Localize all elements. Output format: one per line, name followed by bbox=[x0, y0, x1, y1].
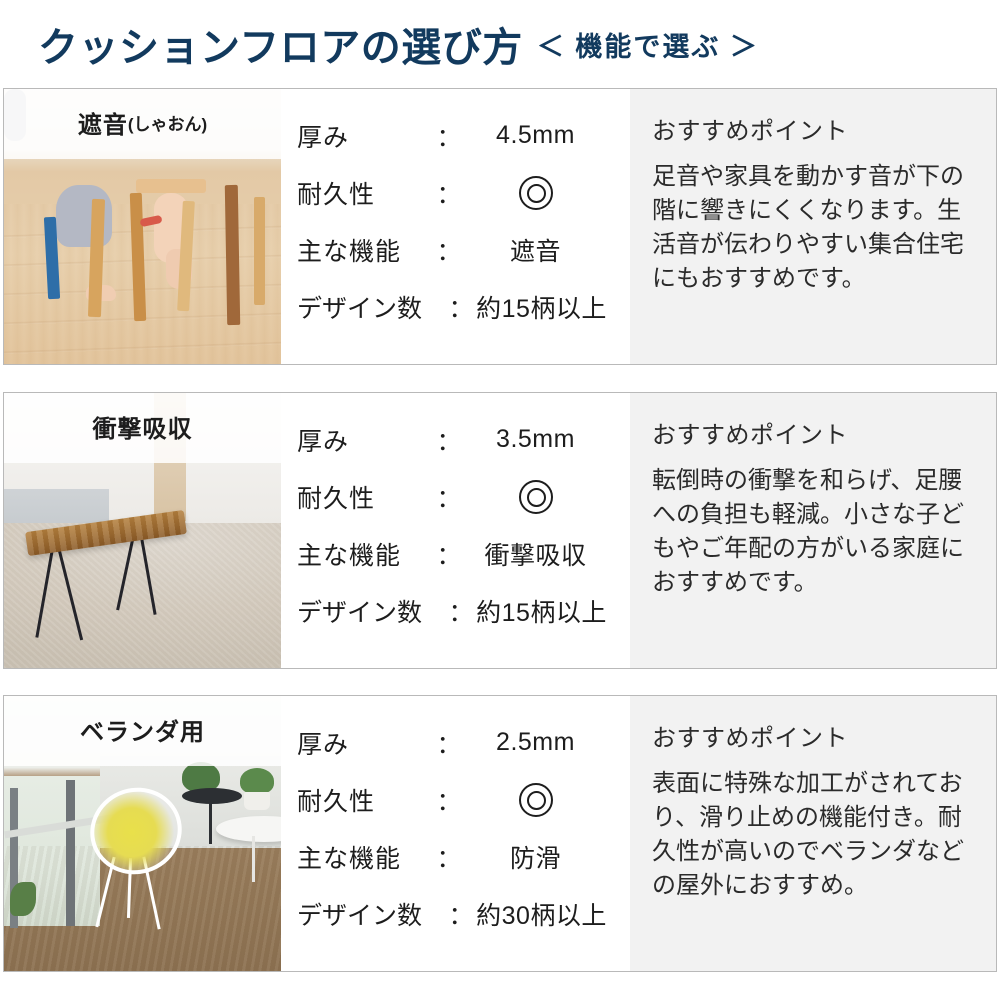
spec-value-design-count: 約15柄以上 bbox=[475, 593, 630, 629]
spec-colon: ： bbox=[435, 422, 463, 458]
spec-value-design-count: 約30柄以上 bbox=[475, 896, 630, 932]
page-subtitle: ＜ 機能で選ぶ ＞ bbox=[537, 25, 759, 64]
spec-row-thickness: 厚み ： 3.5mm bbox=[297, 411, 630, 468]
spec-colon: ： bbox=[447, 896, 475, 932]
recommend-body: 足音や家具を動かす音が下の階に響きにくくなります。生活音が伝わりやすい集合住宅に… bbox=[652, 160, 970, 296]
dark-side-table-top bbox=[182, 788, 242, 804]
spec-value-durability bbox=[463, 176, 630, 210]
spec-key-main-function: 主な機能 bbox=[297, 536, 435, 572]
infographic-page: クッションフロアの選び方 ＜ 機能で選ぶ ＞ bbox=[0, 0, 1000, 1000]
chair-seat bbox=[136, 179, 206, 193]
spec-value-durability bbox=[463, 783, 630, 817]
railing-post bbox=[66, 780, 75, 926]
recommend-heading: おすすめポイント bbox=[652, 415, 970, 450]
spec-colon: ： bbox=[435, 175, 463, 211]
card-label: 遮音 bbox=[78, 105, 128, 140]
spec-key-durability: 耐久性 bbox=[297, 175, 435, 211]
spec-row-design-count: デザイン数 ： 約15柄以上 bbox=[297, 278, 630, 335]
recommend-body: 転倒時の衝撃を和らげ、足腰への負担も軽減。小さな子どもやご年配の方がいる家庭にお… bbox=[652, 464, 970, 600]
spec-colon: ： bbox=[435, 782, 463, 818]
spec-value-thickness: 3.5mm bbox=[463, 425, 630, 454]
spec-colon: ： bbox=[435, 118, 463, 154]
spec-key-main-function: 主な機能 bbox=[297, 839, 435, 875]
recommend-heading: おすすめポイント bbox=[652, 111, 970, 146]
spec-value-thickness: 4.5mm bbox=[463, 121, 630, 150]
spec-value-thickness: 2.5mm bbox=[463, 728, 630, 757]
white-round-table-leg bbox=[252, 836, 255, 882]
spec-key-thickness: 厚み bbox=[297, 118, 435, 154]
recommend-body: 表面に特殊な加工がされており、滑り止めの機能付き。耐久性が高いのでベランダなどの… bbox=[652, 767, 970, 903]
spec-value-design-count: 約15柄以上 bbox=[475, 289, 630, 325]
plant-3 bbox=[10, 882, 36, 916]
page-title: クッションフロアの選び方 bbox=[38, 15, 523, 73]
card-label: ベランダ用 bbox=[80, 712, 205, 747]
feature-card-shaon: 遮音 (しゃおん) 厚み ： 4.5mm 耐久性 ： 主な機能 ： 遮音 デザイ… bbox=[3, 88, 997, 365]
plant-2 bbox=[240, 768, 274, 794]
wood-chair-leg-4 bbox=[225, 185, 240, 325]
feature-card-shock-absorption: 衝撃吸収 厚み ： 3.5mm 耐久性 ： 主な機能 ： 衝撃吸収 デザイン数 bbox=[3, 392, 997, 669]
spec-value-durability bbox=[463, 480, 630, 514]
recommend-heading: おすすめポイント bbox=[652, 718, 970, 753]
wood-chair-leg-5 bbox=[254, 197, 265, 305]
spec-row-durability: 耐久性 ： bbox=[297, 771, 630, 828]
spec-row-design-count: デザイン数 ： 約30柄以上 bbox=[297, 885, 630, 942]
spec-row-thickness: 厚み ： 2.5mm bbox=[297, 714, 630, 771]
spec-key-thickness: 厚み bbox=[297, 422, 435, 458]
recommend-panel: おすすめポイント 足音や家具を動かす音が下の階に響きにくくなります。生活音が伝わ… bbox=[630, 89, 996, 364]
spec-key-design-count: デザイン数 bbox=[297, 896, 447, 932]
double-circle-icon bbox=[519, 480, 553, 514]
card-label-band: ベランダ用 bbox=[4, 696, 281, 766]
spec-row-durability: 耐久性 ： bbox=[297, 164, 630, 221]
spec-key-durability: 耐久性 bbox=[297, 782, 435, 818]
recommend-panel: おすすめポイント 転倒時の衝撃を和らげ、足腰への負担も軽減。小さな子どもやご年配… bbox=[630, 393, 996, 668]
spec-value-main-function: 防滑 bbox=[463, 839, 630, 875]
card-photo-kids-feet-on-light-wood-floor: 遮音 (しゃおん) bbox=[4, 89, 281, 364]
spec-key-thickness: 厚み bbox=[297, 725, 435, 761]
spec-key-design-count: デザイン数 bbox=[297, 289, 447, 325]
card-label: 衝撃吸収 bbox=[93, 409, 193, 444]
spec-colon: ： bbox=[447, 593, 475, 629]
spec-colon: ： bbox=[435, 232, 463, 268]
spec-row-design-count: デザイン数 ： 約15柄以上 bbox=[297, 582, 630, 639]
spec-row-thickness: 厚み ： 4.5mm bbox=[297, 107, 630, 164]
spec-colon: ： bbox=[435, 725, 463, 761]
spec-key-main-function: 主な機能 bbox=[297, 232, 435, 268]
spec-row-main-function: 主な機能 ： 防滑 bbox=[297, 828, 630, 885]
spec-colon: ： bbox=[447, 289, 475, 325]
card-photo-wooden-bench-on-beige-floor: 衝撃吸収 bbox=[4, 393, 281, 668]
card-label-band: 遮音 (しゃおん) bbox=[4, 89, 281, 159]
recommend-panel: おすすめポイント 表面に特殊な加工がされており、滑り止めの機能付き。耐久性が高い… bbox=[630, 696, 996, 971]
dark-side-table-leg bbox=[209, 800, 212, 844]
double-circle-icon bbox=[519, 783, 553, 817]
double-circle-icon bbox=[519, 176, 553, 210]
feature-card-veranda: ベランダ用 厚み ： 2.5mm 耐久性 ： 主な機能 ： 防滑 デザイン数 bbox=[3, 695, 997, 972]
spec-row-main-function: 主な機能 ： 衝撃吸収 bbox=[297, 525, 630, 582]
spec-value-main-function: 衝撃吸収 bbox=[463, 536, 630, 572]
card-label-band: 衝撃吸収 bbox=[4, 393, 281, 463]
spec-row-durability: 耐久性 ： bbox=[297, 468, 630, 525]
card-photo-balcony-with-chair-and-tables: ベランダ用 bbox=[4, 696, 281, 971]
spec-table: 厚み ： 3.5mm 耐久性 ： 主な機能 ： 衝撃吸収 デザイン数 ： 約15… bbox=[281, 393, 630, 668]
spec-row-main-function: 主な機能 ： 遮音 bbox=[297, 221, 630, 278]
spec-colon: ： bbox=[435, 839, 463, 875]
spec-key-durability: 耐久性 bbox=[297, 479, 435, 515]
spec-colon: ： bbox=[435, 479, 463, 515]
page-header: クッションフロアの選び方 ＜ 機能で選ぶ ＞ bbox=[0, 0, 1000, 88]
spec-table: 厚み ： 4.5mm 耐久性 ： 主な機能 ： 遮音 デザイン数 ： 約15柄以… bbox=[281, 89, 630, 364]
spec-value-main-function: 遮音 bbox=[463, 232, 630, 268]
card-label-furigana: (しゃおん) bbox=[128, 110, 207, 135]
spec-key-design-count: デザイン数 bbox=[297, 593, 447, 629]
plant-pot bbox=[244, 792, 270, 810]
spec-table: 厚み ： 2.5mm 耐久性 ： 主な機能 ： 防滑 デザイン数 ： 約30柄以… bbox=[281, 696, 630, 971]
spec-colon: ： bbox=[435, 536, 463, 572]
